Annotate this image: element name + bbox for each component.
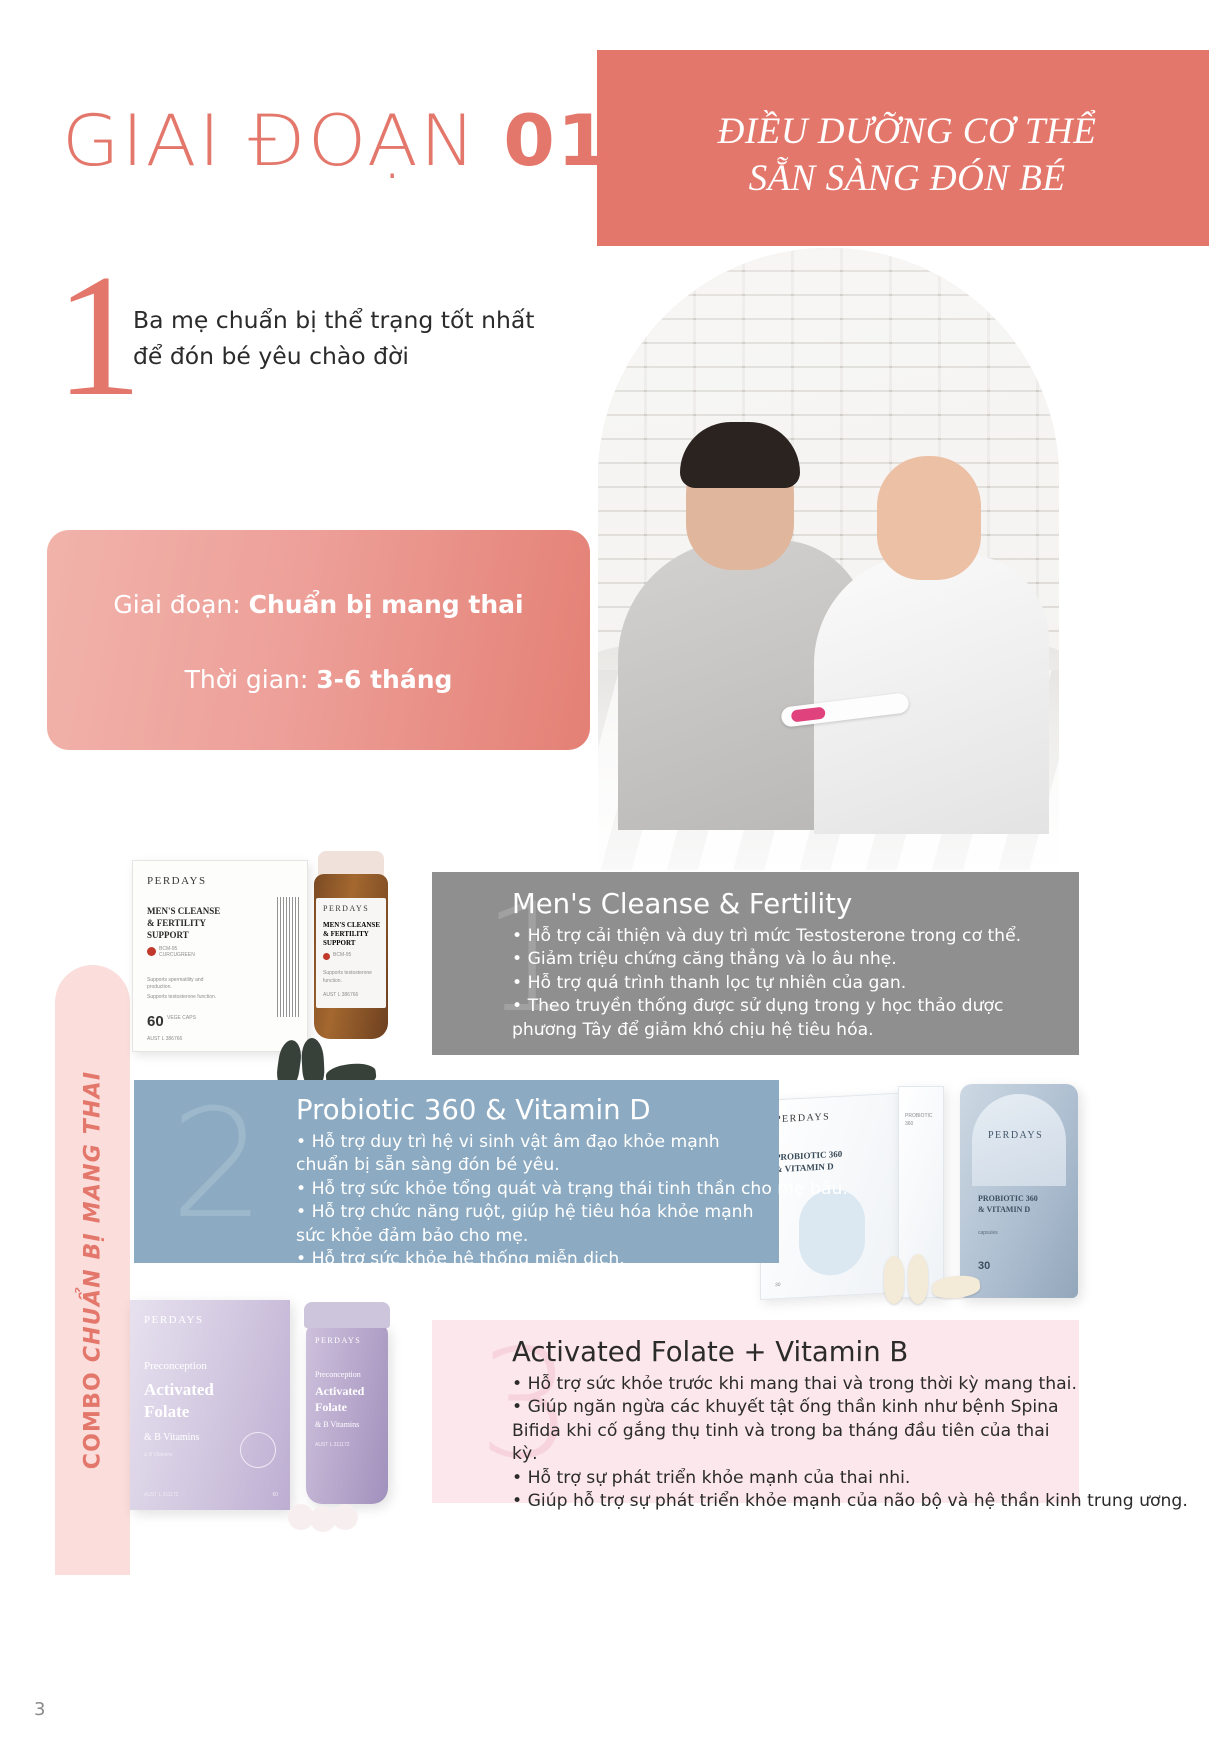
product-1-count: 60 <box>147 1013 164 1030</box>
product-card-2: 2 Probiotic 360 & Vitamin D • Hỗ trợ duy… <box>134 1080 779 1263</box>
page-number: 3 <box>34 1699 45 1720</box>
product-3-photo: PERDAYS Preconception Activated Folate &… <box>120 1290 470 1540</box>
product-card-2-title: Probiotic 360 & Vitamin D <box>296 1094 651 1126</box>
product-card-1-bullet-1: • Hỗ trợ cải thiện và duy trì mức Testos… <box>512 925 1072 948</box>
product-2-tin-name-1: PROBIOTIC 360 <box>978 1194 1038 1203</box>
product-1-photo: PERDAYS MEN'S CLEANSE & FERTILITY SUPPOR… <box>120 846 460 1096</box>
product-card-3-bullet-4: • Giúp hỗ trợ sự phát triển khỏe mạnh củ… <box>512 1490 1072 1513</box>
product-3-bottle-brand: PERDAYS <box>315 1336 361 1345</box>
product-card-3: 3 Activated Folate + Vitamin B • Hỗ trợ … <box>432 1320 1079 1503</box>
product-card-1-bullets: • Hỗ trợ cải thiện và duy trì mức Testos… <box>512 925 1072 1042</box>
intro-text: Ba mẹ chuẩn bị thể trạng tốt nhất để đón… <box>133 303 603 374</box>
product-3-bottle-name-1: Activated <box>315 1384 364 1399</box>
product-card-3-bullet-3: • Hỗ trợ sự phát triển khỏe mạnh của tha… <box>512 1467 1072 1490</box>
stage-title-label: GIAI ĐOẠN <box>62 100 503 182</box>
product-1-carton-name-2: & FERTILITY <box>147 918 206 928</box>
product-3-bottle-pre: Preconception <box>315 1370 361 1379</box>
product-1-aust: AUST L 386766 <box>147 1036 182 1044</box>
product-1-bottle-badge: BCM-95 <box>333 952 351 960</box>
product-1-carton-brand: PERDAYS <box>147 875 207 887</box>
product-1-badge-icon <box>147 947 156 956</box>
product-3-bottle-claim: AUST L 311172 <box>315 1442 377 1450</box>
photo-woman-head <box>877 456 981 580</box>
duration-info-value: 3-6 tháng <box>316 665 452 694</box>
product-card-3-bullet-1: • Hỗ trợ sức khỏe trước khi mang thai và… <box>512 1373 1072 1396</box>
product-3-carton-seal-icon <box>240 1432 276 1468</box>
product-1-carton: PERDAYS MEN'S CLEANSE & FERTILITY SUPPOR… <box>132 860 308 1052</box>
header-band-line-1: ĐIỀU DƯỠNG CƠ THỂ <box>637 108 1177 155</box>
combo-sidebar-label: COMBO CHUẨN BỊ MANG THAI <box>80 1071 105 1470</box>
product-3-carton-brand: PERDAYS <box>144 1314 204 1326</box>
product-card-3-bullet-2: • Giúp ngăn ngừa các khuyết tật ống thần… <box>512 1396 1072 1466</box>
product-card-2-bullet-2: • Hỗ trợ sức khỏe tổng quát và trạng thá… <box>296 1178 766 1201</box>
couple-pregnancy-test-photo <box>598 248 1059 870</box>
product-1-bottle-aust: AUST L 386766 <box>323 992 358 1000</box>
product-1-claim-3: Supports testosterone function. <box>147 994 267 1002</box>
product-2-carton-capsule-graphic <box>799 1188 865 1277</box>
product-1-bottle-badge-icon <box>323 953 330 960</box>
product-1-count-sub: VEGE CAPS <box>167 1015 196 1023</box>
product-1-carton-name-1: MEN'S CLEANSE <box>147 906 220 916</box>
product-1-bottle-brand: PERDAYS <box>323 904 369 913</box>
product-card-2-bullets: • Hỗ trợ duy trì hệ vi sinh vật âm đạo k… <box>296 1131 766 1271</box>
product-2-carton-count: 30 <box>775 1282 781 1290</box>
product-1-bottle-name-3: SUPPORT <box>323 939 355 947</box>
page-title: GIAI ĐOẠN 01 <box>62 100 611 182</box>
product-3-carton-name-1: Activated <box>144 1380 214 1400</box>
product-2-capsule-b <box>908 1254 928 1304</box>
header-band: ĐIỀU DƯỠNG CƠ THỂ SẴN SÀNG ĐÓN BÉ <box>597 50 1209 246</box>
big-step-number: 1 <box>55 248 143 423</box>
product-card-2-bullet-3: • Hỗ trợ chức năng ruột, giúp hệ tiêu hó… <box>296 1201 766 1248</box>
product-3-capsule-c <box>332 1504 358 1530</box>
product-card-1-bullet-3: • Hỗ trợ quá trình thanh lọc tự nhiên củ… <box>512 972 1072 995</box>
combo-sidebar-italic: CHUẨN BỊ MANG THAI <box>80 1071 105 1362</box>
product-3-bottle-name-2: Folate <box>315 1400 347 1415</box>
product-2-carton-brand: PERDAYS <box>775 1111 830 1125</box>
product-1-barcode-icon <box>277 897 299 1017</box>
product-3-carton-claim: & B Vitamins <box>144 1452 240 1460</box>
product-1-bottle-label: PERDAYS MEN'S CLEANSE & FERTILITY SUPPOR… <box>316 898 386 1008</box>
intro-line-1: Ba mẹ chuẩn bị thể trạng tốt nhất <box>133 303 603 339</box>
product-3-carton-pre: Preconception <box>144 1360 207 1372</box>
product-card-1-bullet-4: • Theo truyền thống được sử dụng trong y… <box>512 995 1072 1042</box>
product-3-bottle-name-3: & B Vitamins <box>315 1420 359 1429</box>
duration-info-key: Thời gian: <box>185 665 317 694</box>
product-3-carton-count: 60 <box>272 1492 278 1500</box>
stage-info-value: Chuẩn bị mang thai <box>249 590 524 619</box>
product-1-bottle-name-1: MEN'S CLEANSE <box>323 921 380 929</box>
product-2-tin-brand: PERDAYS <box>988 1130 1043 1141</box>
product-3-carton: PERDAYS Preconception Activated Folate &… <box>130 1300 290 1510</box>
product-2-capsule-a <box>884 1256 904 1304</box>
product-3-carton-name-2: Folate <box>144 1402 189 1422</box>
product-card-2-ghost-number: 2 <box>170 1090 265 1240</box>
duration-info-row: Thời gian: 3-6 tháng <box>47 665 590 694</box>
product-2-tin-count: 30 <box>978 1260 990 1272</box>
product-2-tin-claim: capsules <box>978 1230 1060 1238</box>
photo-woman-body <box>814 554 1049 834</box>
product-card-2-bullet-1: • Hỗ trợ duy trì hệ vi sinh vật âm đạo k… <box>296 1131 766 1178</box>
stage-info-row: Giai đoạn: Chuẩn bị mang thai <box>47 590 590 619</box>
stage-title-number: 01 <box>503 100 611 182</box>
product-1-claim-2: production. <box>147 984 257 992</box>
product-1-bottle-claim: Supports testosterone function. <box>323 970 381 985</box>
product-3-carton-name-3: & B Vitamins <box>144 1432 199 1443</box>
product-1-badge-sub: CURCUGREEN <box>159 952 195 960</box>
stage-info-card: Giai đoạn: Chuẩn bị mang thai Thời gian:… <box>47 530 590 750</box>
product-card-1: 1 Men's Cleanse & Fertility • Hỗ trợ cải… <box>432 872 1079 1055</box>
page-root: ĐIỀU DƯỠNG CƠ THỂ SẴN SÀNG ĐÓN BÉ GIAI Đ… <box>0 0 1209 1742</box>
intro-line-2: để đón bé yêu chào đời <box>133 339 603 375</box>
product-card-3-bullets: • Hỗ trợ sức khỏe trước khi mang thai và… <box>512 1373 1072 1513</box>
product-3-bottle-cap <box>304 1302 390 1328</box>
product-card-1-title: Men's Cleanse & Fertility <box>512 888 852 920</box>
combo-sidebar: COMBO CHUẨN BỊ MANG THAI <box>55 965 130 1575</box>
product-card-2-bullet-4: • Hỗ trợ sức khỏe hệ thống miễn dịch. <box>296 1248 766 1271</box>
product-3-bottle: PERDAYS Preconception Activated Folate &… <box>306 1324 388 1504</box>
product-3-carton-aust: AUST L 311172 <box>144 1492 179 1500</box>
product-2-tin-name-2: & VITAMIN D <box>978 1205 1030 1214</box>
product-card-3-title: Activated Folate + Vitamin B <box>512 1336 908 1368</box>
combo-sidebar-prefix: COMBO <box>80 1362 105 1469</box>
product-card-1-bullet-2: • Giảm triệu chứng căng thẳng và lo âu n… <box>512 948 1072 971</box>
product-2-carton-side-text: PROBIOTIC 360 <box>905 1113 939 1128</box>
product-1-bottle-name-2: & FERTILITY <box>323 930 369 938</box>
header-band-text: ĐIỀU DƯỠNG CƠ THỂ SẴN SÀNG ĐÓN BÉ <box>637 108 1177 203</box>
stage-info-key: Giai đoạn: <box>113 590 248 619</box>
product-2-tin: PERDAYS PROBIOTIC 360 & VITAMIN D capsul… <box>960 1084 1078 1298</box>
header-band-line-2: SẴN SÀNG ĐÓN BÉ <box>637 155 1177 202</box>
product-2-carton-name-2: & VITAMIN D <box>775 1161 834 1174</box>
product-1-carton-name-3: SUPPORT <box>147 930 189 940</box>
